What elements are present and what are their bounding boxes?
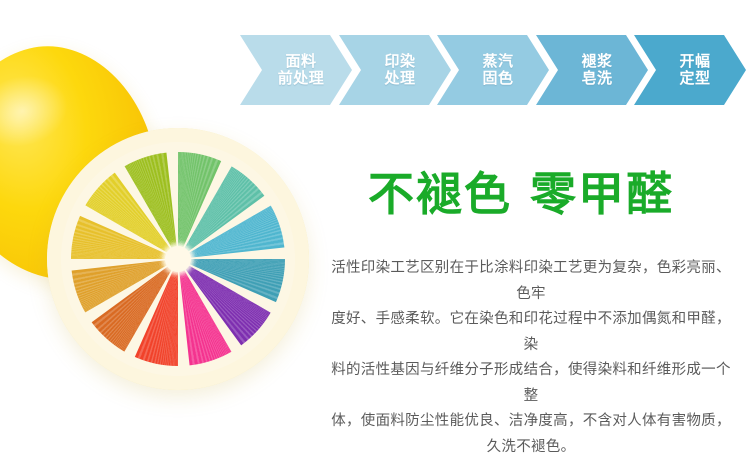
description-line: 体，使面料防尘性能优良、洁净度高，不含对人体有害物质，: [326, 409, 736, 435]
process-step-label: 印染 处理: [374, 53, 415, 88]
process-step-label: 蒸汽 固色: [472, 53, 513, 88]
promo-banner: 面料 前处理印染 处理蒸汽 固色褪浆 皂洗开幅 定型 不褪色 零甲醛 活性印染工…: [0, 0, 750, 412]
process-step-label: 面料 前处理: [268, 53, 325, 88]
description-line: 料的活性基因与纤维分子形成结合，使得染料和纤维形成一个整: [326, 358, 736, 409]
process-step-1[interactable]: 面料 前处理: [240, 35, 352, 105]
process-flow-chevrons: 面料 前处理印染 处理蒸汽 固色褪浆 皂洗开幅 定型: [240, 35, 746, 105]
process-step-4[interactable]: 褪浆 皂洗: [536, 35, 648, 105]
description-paragraph: 活性印染工艺区别在于比涂料印染工艺更为复杂，色彩亮丽、色牢度好、手感柔软。它在染…: [326, 256, 736, 460]
description-line: 活性印染工艺区别在于比涂料印染工艺更为复杂，色彩亮丽、色牢: [326, 256, 736, 307]
process-step-label: 褪浆 皂洗: [571, 53, 612, 88]
description-line: 度好、手感柔软。它在染色和印花过程中不添加偶氮和甲醛，染: [326, 307, 736, 358]
process-step-5[interactable]: 开幅 定型: [634, 35, 746, 105]
process-step-label: 开幅 定型: [669, 53, 710, 88]
lemon-core: [165, 246, 191, 272]
process-step-3[interactable]: 蒸汽 固色: [437, 35, 549, 105]
rainbow-lemon-slice: [47, 128, 309, 390]
process-step-2[interactable]: 印染 处理: [339, 35, 451, 105]
description-line: 久洗不褪色。: [326, 435, 736, 460]
page-title: 不褪色 零甲醛: [368, 166, 708, 222]
